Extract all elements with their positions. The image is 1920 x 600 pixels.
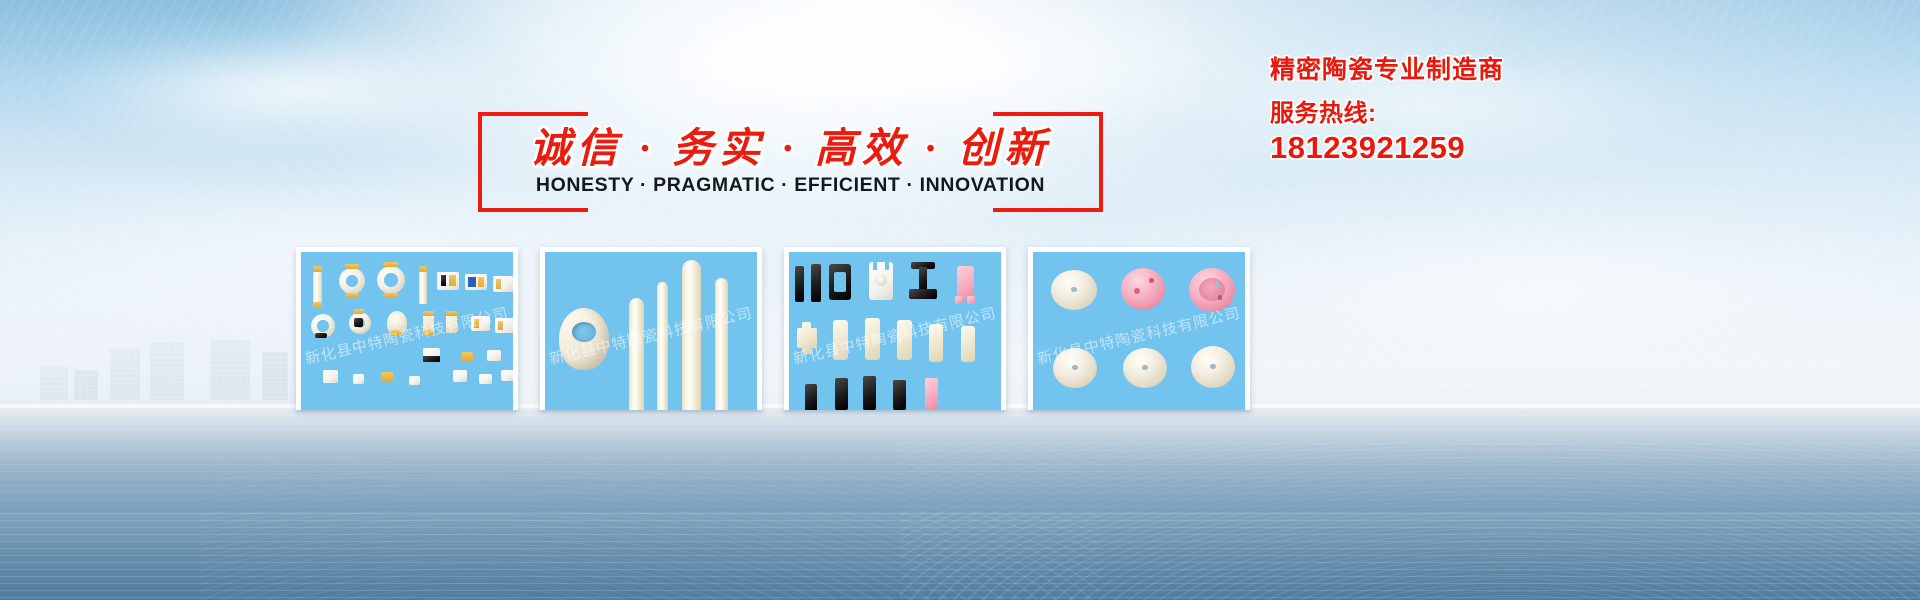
company-tagline: 精密陶瓷专业制造商 [1270,55,1910,85]
water-swirl [200,458,1100,600]
contact-block: 精密陶瓷专业制造商 服务热线: 18123921259 [1270,55,1910,166]
hotline-label: 服务热线: [1270,99,1910,129]
product-image-blocks: 新化县中特陶瓷科技有限公司 [789,252,1001,410]
slogan-chinese: 诚信 · 务实 · 高效 · 创新 [478,114,1103,174]
product-panel-2[interactable]: 新化县中特陶瓷科技有限公司 [540,247,762,410]
product-image-tubes-rods: 新化县中特陶瓷科技有限公司 [545,252,757,410]
product-panel-1[interactable]: 新化县中特陶瓷科技有限公司 [296,247,518,410]
panel-watermark: 新化县中特陶瓷科技有限公司 [301,298,513,372]
slogan-block: 诚信 · 务实 · 高效 · 创新 HONESTY · PRAGMATIC · … [478,112,1103,212]
product-panel-4[interactable]: 新化县中特陶瓷科技有限公司 [1028,247,1250,410]
product-image-small-parts: 新化县中特陶瓷科技有限公司 [301,252,513,410]
banner-stage: 诚信 · 务实 · 高效 · 创新 HONESTY · PRAGMATIC · … [0,0,1920,600]
slogan-english: HONESTY · PRAGMATIC · EFFICIENT · INNOVA… [478,174,1103,197]
product-image-discs: 新化县中特陶瓷科技有限公司 [1033,252,1245,410]
product-panel-gallery: 新化县中特陶瓷科技有限公司 新化县中特陶瓷科技有限公司 [296,247,1288,410]
hotline-number[interactable]: 18123921259 [1270,130,1910,166]
water-surface [0,408,1920,600]
product-panel-3[interactable]: 新化县中特陶瓷科技有限公司 [784,247,1006,410]
